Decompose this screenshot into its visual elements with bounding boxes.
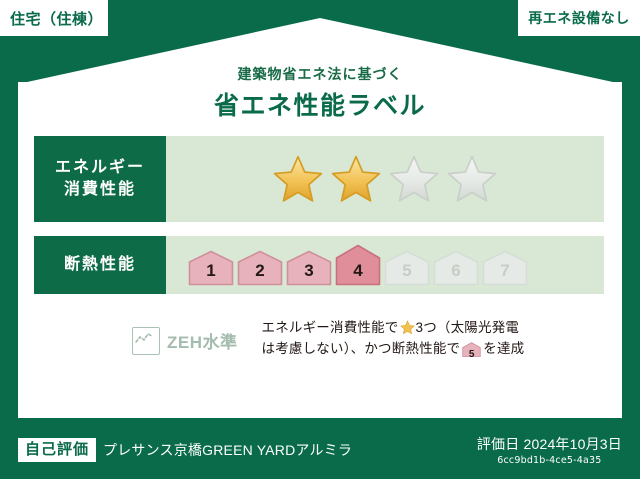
house-icon [384, 250, 430, 286]
note-line1-suffix: 3つ（太陽光発電 [416, 320, 520, 335]
house-icon [237, 250, 283, 286]
building-type-tag: 住宅（住棟） [0, 0, 108, 36]
note-line1-prefix: エネルギー消費性能で [262, 320, 399, 335]
page-title: 省エネ性能ラベル [18, 86, 622, 122]
achievement-note: エネルギー消費性能で3つ（太陽光発電 は考慮しない）、かつ断熱性能で5を達成 [262, 318, 525, 364]
house-icon [482, 250, 528, 286]
zeh-mark-icon [132, 327, 160, 355]
insulation-level-5: 5 [384, 250, 430, 286]
inline-house-number: 5 [462, 347, 481, 363]
insulation-label: 断熱性能 [64, 254, 136, 276]
energy-performance-row: エネルギー 消費性能 [34, 136, 604, 222]
star-filled-icon [272, 154, 324, 204]
renewable-energy-tag: 再エネ設備なし [518, 0, 640, 36]
house-icon [286, 250, 332, 286]
zeh-mark: ZEH水準 [34, 327, 238, 355]
energy-performance-label: 住宅（住棟） 再エネ設備なし 建築物省エネ法に基づく 省エネ性能ラベル エネルギ… [0, 0, 640, 479]
star-empty-icon [446, 154, 498, 204]
zeh-note-area: ZEH水準 エネルギー消費性能で3つ（太陽光発電 は考慮しない）、かつ断熱性能で… [34, 318, 604, 364]
note-line2-suffix: を達成 [483, 341, 524, 356]
house-icon [188, 250, 234, 286]
inline-house-badge: 5 [462, 342, 481, 364]
house-icon [433, 250, 479, 286]
energy-label-line1: エネルギー [55, 157, 145, 179]
house-icon [335, 244, 381, 286]
star-filled-icon [330, 154, 382, 204]
insulation-performance-levels-cell: 1234567 [166, 236, 604, 294]
note-line2-prefix: は考慮しない）、かつ断熱性能で [262, 341, 461, 356]
card-content: 建築物省エネ法に基づく 省エネ性能ラベル エネルギー 消費性能 断熱性能 123… [18, 18, 622, 418]
insulation-level-2: 2 [237, 250, 283, 286]
self-evaluation-badge: 自己評価 [18, 438, 96, 462]
star-rating [272, 154, 498, 204]
star-empty-icon [388, 154, 440, 204]
property-name: プレサンス京橋GREEN YARDアルミラ [103, 440, 352, 460]
label-footer: 自己評価 プレサンス京橋GREEN YARDアルミラ 評価日 2024年10月3… [0, 421, 640, 479]
energy-performance-stars-cell [166, 136, 604, 222]
insulation-level-6: 6 [433, 250, 479, 286]
insulation-performance-row: 断熱性能 1234567 [34, 236, 604, 294]
inline-star-icon [400, 320, 415, 335]
evaluation-date: 評価日 2024年10月3日 [477, 434, 622, 454]
label-subtitle: 建築物省エネ法に基づく [18, 64, 622, 84]
zeh-label: ZEH水準 [167, 328, 238, 353]
insulation-level-1: 1 [188, 250, 234, 286]
insulation-level-4: 4 [335, 244, 381, 286]
footer-meta: 評価日 2024年10月3日 6cc9bd1b-4ce5-4a35 [477, 434, 622, 466]
insulation-level-7: 7 [482, 250, 528, 286]
insulation-level-scale: 1234567 [188, 244, 528, 286]
energy-label-line2: 消費性能 [64, 179, 136, 201]
energy-performance-label-cell: エネルギー 消費性能 [34, 136, 166, 222]
insulation-performance-label-cell: 断熱性能 [34, 236, 166, 294]
evaluation-id: 6cc9bd1b-4ce5-4a35 [477, 455, 622, 466]
insulation-level-3: 3 [286, 250, 332, 286]
